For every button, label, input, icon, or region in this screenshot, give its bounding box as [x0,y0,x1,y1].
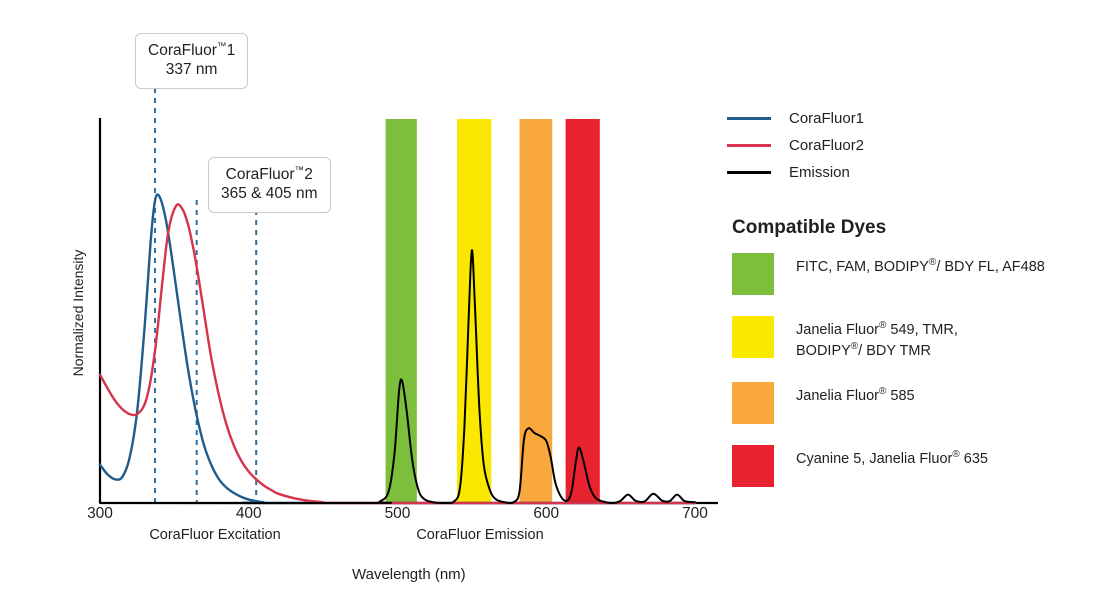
region-label-excitation: CoraFluor Excitation [85,527,345,543]
dye-item-1: Janelia Fluor® 549, TMR,BODIPY®/ BDY TMR [727,316,1102,361]
legend-label: CoraFluor⁤1 [789,110,864,127]
region-label-emission: CoraFluor Emission [350,527,610,543]
legend-line-swatch [727,144,771,147]
x-tick-700: 700 [665,505,725,523]
callout-corafluor-1: CoraFluor™1 337 nm [135,33,248,89]
dye-item-3: Cyanine 5, Janelia Fluor® 635 [727,445,1102,487]
compatible-dyes-list: FITC, FAM, BODIPY®/ BDY FL, AF488Janelia… [727,253,1102,487]
legend-item-1: CoraFluor⁤2 [727,132,1102,159]
dye-color-swatch [732,382,774,424]
dye-label: FITC, FAM, BODIPY®/ BDY FL, AF488 [796,253,1045,277]
right-panel: CoraFluor⁤1CoraFluor⁤2Emission Compatibl… [727,105,1102,508]
callout-2-line2: 365 & 405 nm [221,185,318,204]
legend-line-swatch [727,171,771,174]
callout-1-line1: CoraFluor™1 [148,42,235,59]
callout-1-line2: 337 nm [148,61,235,80]
compatible-dyes-title: Compatible Dyes [732,217,1102,239]
dye-label: Janelia Fluor® 549, TMR,BODIPY®/ BDY TMR [796,316,958,361]
x-tick-600: 600 [516,505,576,523]
emission-bands-group [386,119,600,503]
callout-corafluor-2: CoraFluor™2 365 & 405 nm [208,157,331,213]
excitation-dashed-lines-group [155,88,256,503]
legend-line-swatch [727,117,771,120]
x-tick-400: 400 [219,505,279,523]
x-tick-500: 500 [368,505,428,523]
dye-item-2: Janelia Fluor® 585 [727,382,1102,424]
x-axis-title: Wavelength (nm) [352,566,466,583]
dye-label: Cyanine 5, Janelia Fluor® 635 [796,445,988,469]
dye-label: Janelia Fluor® 585 [796,382,915,406]
dye-color-swatch [732,253,774,295]
legend-item-2: Emission [727,159,1102,186]
fluorescence-spectra-figure: CoraFluor™1 337 nm CoraFluor™2 365 & 405… [0,0,1110,612]
legend-label: CoraFluor⁤2 [789,137,864,154]
chart-legend: CoraFluor⁤1CoraFluor⁤2Emission [727,105,1102,186]
callout-2-line1: CoraFluor™2 [226,166,313,183]
yellow-band [457,119,491,503]
dye-color-swatch [732,316,774,358]
legend-item-0: CoraFluor⁤1 [727,105,1102,132]
red-band [566,119,600,503]
green-band [386,119,417,503]
legend-label: Emission [789,164,850,181]
dye-item-0: FITC, FAM, BODIPY®/ BDY FL, AF488 [727,253,1102,295]
dye-color-swatch [732,445,774,487]
x-tick-300: 300 [70,505,130,523]
y-axis-title: Normalized Intensity [70,213,86,413]
